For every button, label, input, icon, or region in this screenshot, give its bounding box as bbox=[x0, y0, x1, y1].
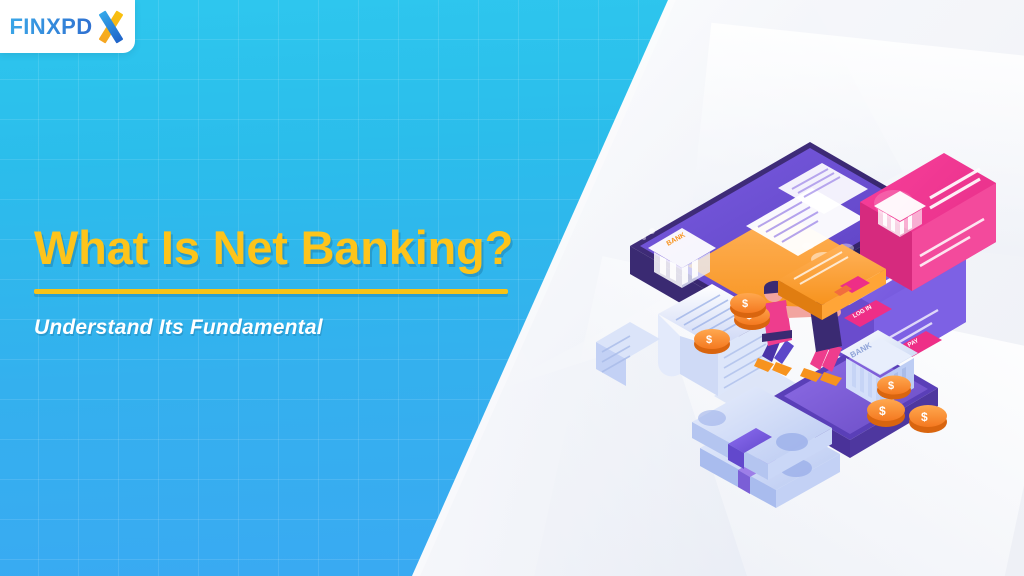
logo-wordmark: FINXPD bbox=[9, 16, 92, 38]
coin: $ bbox=[694, 329, 730, 354]
svg-text:$: $ bbox=[879, 404, 886, 418]
coin: $ bbox=[730, 293, 766, 318]
logo[interactable]: FINXPD bbox=[0, 0, 135, 53]
svg-text:$: $ bbox=[742, 298, 748, 310]
coin: $ bbox=[877, 376, 911, 400]
banner-root: FINXPD What Is Net Banking? Understand I… bbox=[0, 0, 1024, 576]
hero-text-block: What Is Net Banking? Understand Its Fund… bbox=[34, 222, 554, 340]
coin: $ bbox=[867, 399, 905, 427]
svg-text:$: $ bbox=[706, 334, 712, 346]
page-subtitle: Understand Its Fundamental bbox=[34, 316, 554, 340]
svg-text:$: $ bbox=[921, 410, 928, 424]
net-banking-illustration: BANK PAY MORE bbox=[596, 96, 1008, 516]
floating-document bbox=[596, 322, 660, 386]
title-underline-rule bbox=[34, 289, 508, 294]
logo-x-icon bbox=[96, 12, 126, 42]
page-title: What Is Net Banking? bbox=[34, 222, 554, 274]
coin: $ bbox=[909, 405, 947, 433]
svg-text:$: $ bbox=[888, 380, 894, 392]
